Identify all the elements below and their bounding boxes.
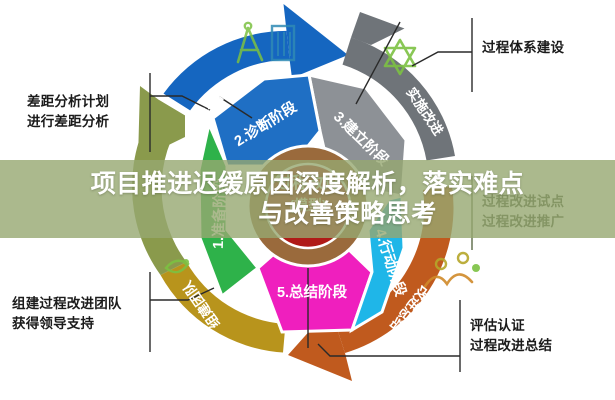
overlay-title-line-2: 与改善策略思考 (178, 199, 437, 230)
title-overlay-band: 项目推进迟缓原因深度解析，落实难点 与改善策略思考 (0, 160, 615, 238)
callout-assess-line-2: 过程改进总结 (470, 336, 552, 356)
diagram-canvas: 差距分析 实施改进 改进总结 组建团队 2.诊断阶段 3.建立阶段 1.准备阶段… (0, 0, 615, 400)
stage-label-5: 5.总结阶段 (277, 283, 348, 301)
callout-process-system: 过程体系建设 (482, 38, 564, 58)
callout-build-team: 组建过程改进团队 获得领导支持 (12, 294, 122, 333)
callout-gap-line-2: 进行差距分析 (27, 112, 109, 132)
callout-gap-line-1: 差距分析计划 (27, 92, 109, 112)
callout-assess-line-1: 评估认证 (470, 316, 552, 336)
callout-team-line-2: 获得领导支持 (12, 314, 122, 334)
callout-system-line-1: 过程体系建设 (482, 38, 564, 58)
callout-gap-analysis: 差距分析计划 进行差距分析 (27, 92, 109, 131)
overlay-title-line-1: 项目推进迟缓原因深度解析，落实难点 (91, 169, 525, 200)
callout-team-line-1: 组建过程改进团队 (12, 294, 122, 314)
callout-assessment: 评估认证 过程改进总结 (470, 316, 552, 355)
